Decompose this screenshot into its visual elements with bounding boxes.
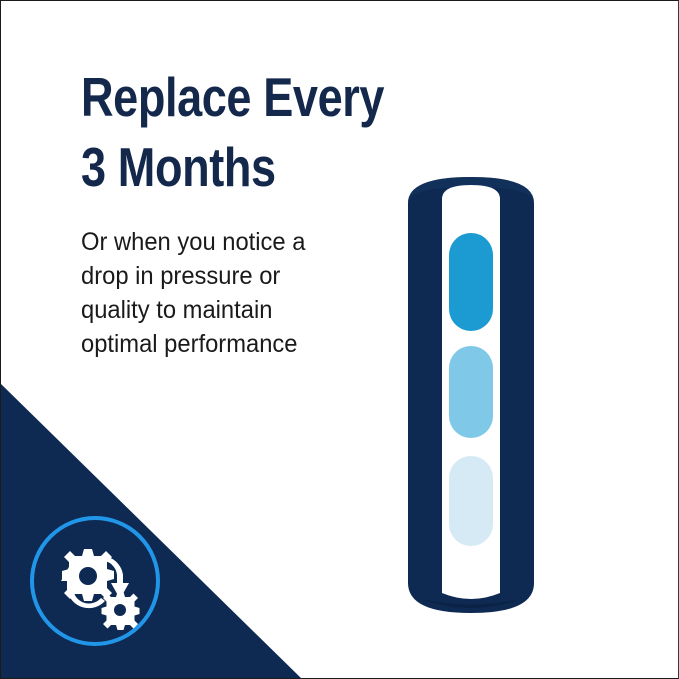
indicator-middle [449, 346, 493, 438]
gear-small-hub-icon [114, 604, 126, 616]
gear-large-hub-icon [79, 567, 97, 585]
headline-line-1: Replace Every [81, 63, 352, 131]
maintenance-cycle-badge [23, 509, 167, 653]
gears-refresh-cycle-icon [61, 549, 140, 630]
subtext-line-3: quality to maintain [81, 293, 395, 327]
infographic-canvas: Replace Every 3 Months Or when you notic… [0, 0, 679, 679]
subtext-line-4: optimal performance [81, 327, 395, 361]
indicator-top [449, 233, 493, 331]
indicator-bottom [449, 456, 493, 546]
subtext-line-1: Or when you notice a [81, 225, 395, 259]
water-filter-cartridge [401, 169, 541, 621]
headline-line-2: 3 Months [81, 133, 352, 201]
subtext-line-2: drop in pressure or [81, 259, 395, 293]
text-block: Replace Every 3 Months Or when you notic… [81, 63, 411, 361]
